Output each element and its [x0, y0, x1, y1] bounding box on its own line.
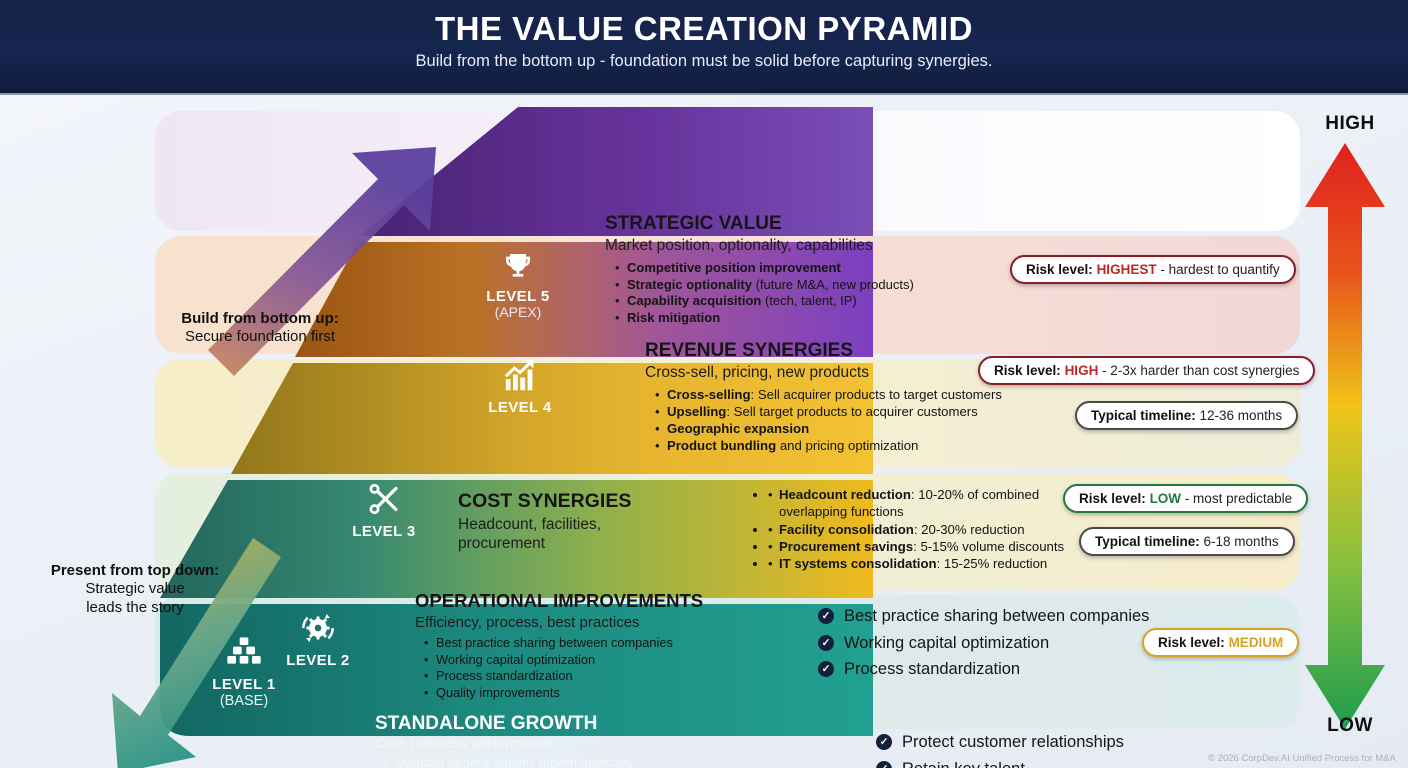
- list-item: Best practice sharing between companies: [424, 635, 745, 652]
- gear-cycle-icon: [298, 608, 338, 648]
- bricks-icon: [223, 630, 265, 670]
- level5-title: STRATEGIC VALUE: [605, 213, 1025, 235]
- list-item: Quality improvements: [424, 685, 745, 702]
- level3-subtitle: Headcount, facilities, procurement: [458, 515, 668, 553]
- level4-bullets: Cross-selling: Sell acquirer products to…: [655, 386, 1075, 454]
- annotation-build-up: Build from bottom up: Secure foundation …: [150, 310, 370, 346]
- list-item: Facility consolidation: 20-30% reduction: [768, 521, 1088, 538]
- level5-subtitle: Market position, optionality, capabiliti…: [605, 237, 1025, 255]
- list-item: ✓Retain key talent: [876, 756, 1142, 768]
- level3-badge: LEVEL 3: [338, 523, 430, 540]
- page-header: THE VALUE CREATION PYRAMID Build from th…: [0, 0, 1408, 95]
- growth-chart-icon: [499, 357, 541, 395]
- level3-title: COST SYNERGIES: [458, 490, 668, 513]
- level4-risk-pill: Risk level: HIGH - 2-3x harder than cost…: [978, 356, 1315, 385]
- level1-title: STANDALONE GROWTH: [375, 713, 705, 735]
- level4-timeline-pill: Typical timeline: 12-36 months: [1075, 401, 1298, 430]
- list-item: Maintain target's organic growth traject…: [384, 755, 705, 768]
- list-item: Strategic optionality (future M&A, new p…: [615, 277, 1025, 294]
- level1-checklist: ✓Protect customer relationships ✓Retain …: [876, 729, 1142, 768]
- page-title: THE VALUE CREATION PYRAMID: [0, 10, 1408, 48]
- level3-bullets: Headcount reduction: 10-20% of combined …: [728, 486, 1088, 572]
- list-item: ✓Protect customer relationships: [876, 729, 1142, 756]
- level3-badge-group: LEVEL 3: [338, 480, 430, 540]
- list-item: ✓Process standardization: [818, 656, 1149, 683]
- page-subtitle: Build from the bottom up - foundation mu…: [0, 52, 1408, 71]
- level2-title: OPERATIONAL IMPROVEMENTS: [415, 590, 745, 612]
- list-item: Cross-selling: Sell acquirer products to…: [655, 386, 1075, 403]
- level3-timeline-pill: Typical timeline: 6-18 months: [1079, 527, 1295, 556]
- check-icon: ✓: [876, 734, 892, 750]
- footer-copyright: © 2026 CorpDev.AI Unified Process for M&…: [1208, 753, 1396, 764]
- level1-badge-group: LEVEL 1 (BASE): [198, 630, 290, 709]
- list-item: Process standardization: [424, 668, 745, 685]
- trophy-icon: [501, 250, 535, 282]
- level3-risk-pill: Risk level: LOW - most predictable: [1063, 484, 1308, 513]
- level5-risk-pill: Risk level: HIGHEST - hardest to quantif…: [1010, 255, 1296, 284]
- diagram-canvas: LEVEL 5 (APEX) LEVEL 4 LEVEL 3: [0, 95, 1408, 768]
- scale-high-label: HIGH: [1300, 113, 1400, 135]
- list-item: Geographic expansion: [655, 420, 1075, 437]
- level5-badge-sub: (APEX): [472, 305, 564, 320]
- scissors-icon: [365, 480, 403, 518]
- list-item: Procurement savings: 5-15% volume discou…: [768, 538, 1088, 555]
- list-item: Risk mitigation: [615, 310, 1025, 327]
- level4-badge: LEVEL 4: [474, 399, 566, 416]
- level5-badge-group: LEVEL 5 (APEX): [472, 250, 564, 320]
- level5-content: STRATEGIC VALUE Market position, optiona…: [605, 213, 1025, 326]
- level1-bullets: Maintain target's organic growth traject…: [384, 755, 705, 768]
- check-icon: ✓: [818, 635, 834, 651]
- list-item: Competitive position improvement: [615, 260, 1025, 277]
- infographic-page: THE VALUE CREATION PYRAMID Build from th…: [0, 0, 1408, 768]
- list-item: Capability acquisition (tech, talent, IP…: [615, 293, 1025, 310]
- level5-badge: LEVEL 5: [472, 288, 564, 305]
- list-item: IT systems consolidation: 15-25% reducti…: [768, 555, 1088, 572]
- check-icon: ✓: [876, 761, 892, 768]
- level1-subtitle: Core business performance: [375, 736, 705, 752]
- scale-low-label: LOW: [1300, 715, 1400, 737]
- level1-badge: LEVEL 1: [198, 676, 290, 693]
- list-item: ✓Best practice sharing between companies: [818, 603, 1149, 630]
- list-item: Headcount reduction: 10-20% of combined …: [768, 486, 1088, 520]
- check-icon: ✓: [818, 608, 834, 624]
- check-icon: ✓: [818, 661, 834, 677]
- level4-badge-group: LEVEL 4: [474, 357, 566, 416]
- level2-bullets: Best practice sharing between companies …: [424, 635, 745, 701]
- level1-content: STANDALONE GROWTH Core business performa…: [375, 713, 705, 768]
- level3-content: COST SYNERGIES Headcount, facilities, pr…: [458, 490, 668, 553]
- level2-content: OPERATIONAL IMPROVEMENTS Efficiency, pro…: [415, 590, 745, 701]
- list-item: ✓Working capital optimization: [818, 630, 1149, 657]
- annotation-top-down: Present from top down: Strategic value l…: [10, 562, 260, 617]
- level1-badge-sub: (BASE): [198, 693, 290, 709]
- list-item: Upselling: Sell target products to acqui…: [655, 403, 1075, 420]
- level2-subtitle: Efficiency, process, best practices: [415, 614, 745, 631]
- level2-checklist: ✓Best practice sharing between companies…: [818, 603, 1149, 683]
- level5-bullets: Competitive position improvement Strateg…: [615, 260, 1025, 326]
- list-item: Working capital optimization: [424, 652, 745, 669]
- high-low-scale-arrow: [1305, 143, 1385, 729]
- level2-risk-pill: Risk level: MEDIUM: [1142, 628, 1299, 657]
- list-item: Product bundling and pricing optimizatio…: [655, 437, 1075, 454]
